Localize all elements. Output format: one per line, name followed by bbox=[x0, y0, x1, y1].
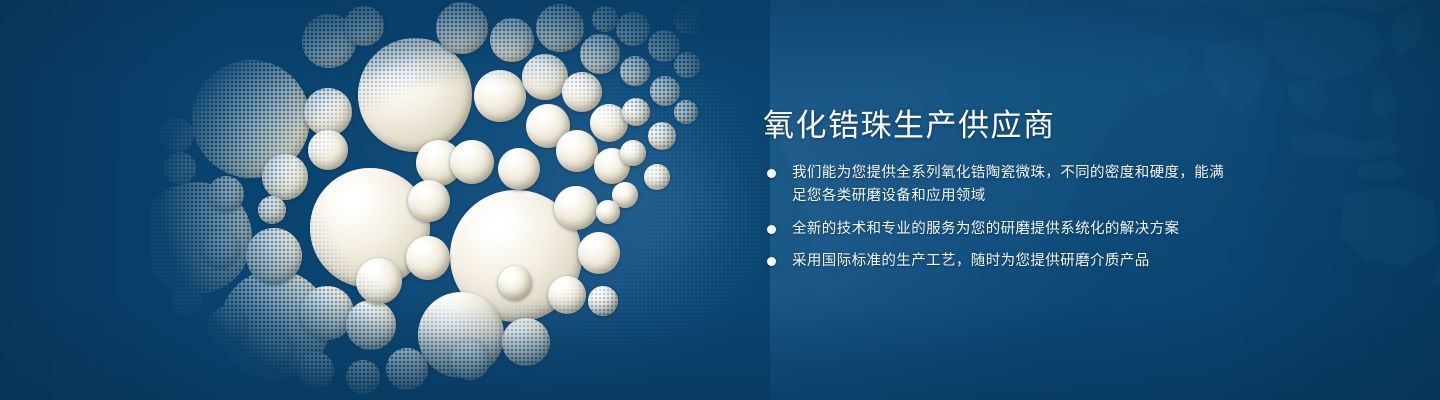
bullet-dot-icon bbox=[767, 169, 776, 178]
banner-copy-block: 氧化锆珠生产供应商 我们能为您提供全系列氧化锆陶瓷微珠，不同的密度和硬度，能满足… bbox=[763, 108, 1233, 274]
bullet-text: 我们能为您提供全系列氧化锆陶瓷微珠，不同的密度和硬度，能满足您各类研磨设备和应用… bbox=[792, 165, 1224, 204]
banner-feature-list: 我们能为您提供全系列氧化锆陶瓷微珠，不同的密度和硬度，能满足您各类研磨设备和应用… bbox=[763, 162, 1233, 274]
product-hero-banner: 氧化锆珠生产供应商 我们能为您提供全系列氧化锆陶瓷微珠，不同的密度和硬度，能满足… bbox=[0, 0, 1440, 400]
list-item: 我们能为您提供全系列氧化锆陶瓷微珠，不同的密度和硬度，能满足您各类研磨设备和应用… bbox=[763, 162, 1233, 209]
list-item: 全新的技术和专业的服务为您的研磨提供系统化的解决方案 bbox=[763, 218, 1233, 241]
bullet-text: 全新的技术和专业的服务为您的研磨提供系统化的解决方案 bbox=[792, 221, 1179, 237]
bullet-dot-icon bbox=[767, 257, 776, 266]
ceramic-beads-photo bbox=[150, 0, 770, 400]
banner-headline: 氧化锆珠生产供应商 bbox=[763, 108, 1233, 144]
bullet-dot-icon bbox=[767, 225, 776, 234]
bullet-text: 采用国际标准的生产工艺，随时为您提供研磨介质产品 bbox=[792, 253, 1150, 269]
list-item: 采用国际标准的生产工艺，随时为您提供研磨介质产品 bbox=[763, 250, 1233, 273]
beads-stage bbox=[150, 0, 770, 400]
